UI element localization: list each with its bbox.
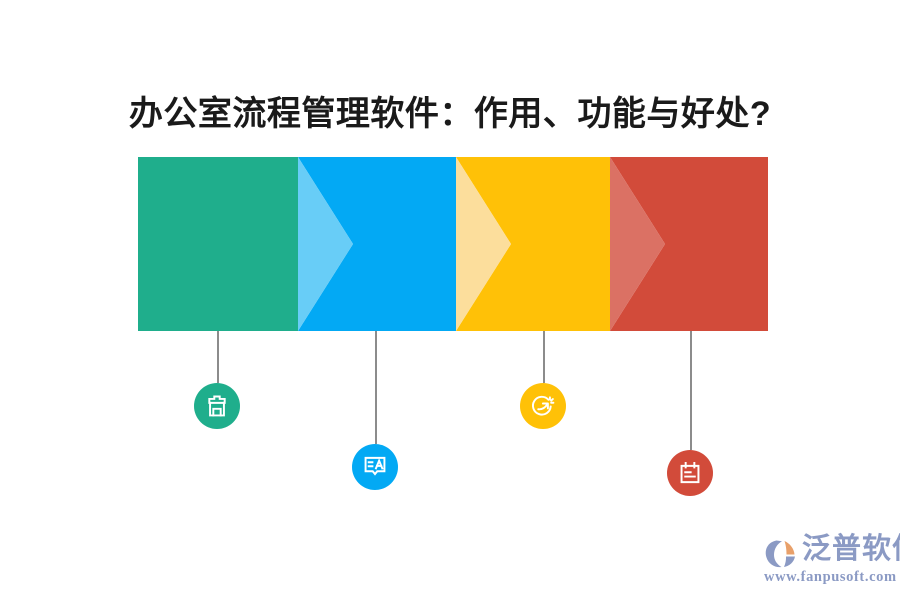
segment-green-body: [138, 157, 298, 331]
growth-arrow-icon: [530, 393, 556, 419]
connector-line-3: [543, 331, 545, 383]
store-icon: [204, 393, 230, 419]
notepad-calendar-icon: [677, 460, 703, 486]
node-store: [194, 383, 240, 429]
translate-chat-icon: [362, 454, 388, 480]
brand-name: 泛普软件: [802, 535, 900, 564]
connector-line-2: [375, 331, 377, 444]
page-title: 办公室流程管理软件：作用、功能与好处?: [0, 94, 900, 135]
segment-blue: [298, 157, 456, 331]
node-translate: [352, 444, 398, 490]
segment-red: [610, 157, 768, 331]
chevron-process-banner: [138, 157, 768, 331]
node-growth: [520, 383, 566, 429]
node-notepad: [667, 450, 713, 496]
brand-url: www.fanpusoft.com: [764, 569, 897, 586]
infographic-canvas: 办公室流程管理软件：作用、功能与好处?: [0, 0, 900, 600]
segment-yellow: [456, 157, 610, 331]
connector-line-4: [690, 331, 692, 450]
brand-logo: 泛普软件 www.fanpusoft.com: [762, 533, 894, 591]
segment-green: [138, 157, 298, 331]
connector-line-1: [217, 331, 219, 383]
